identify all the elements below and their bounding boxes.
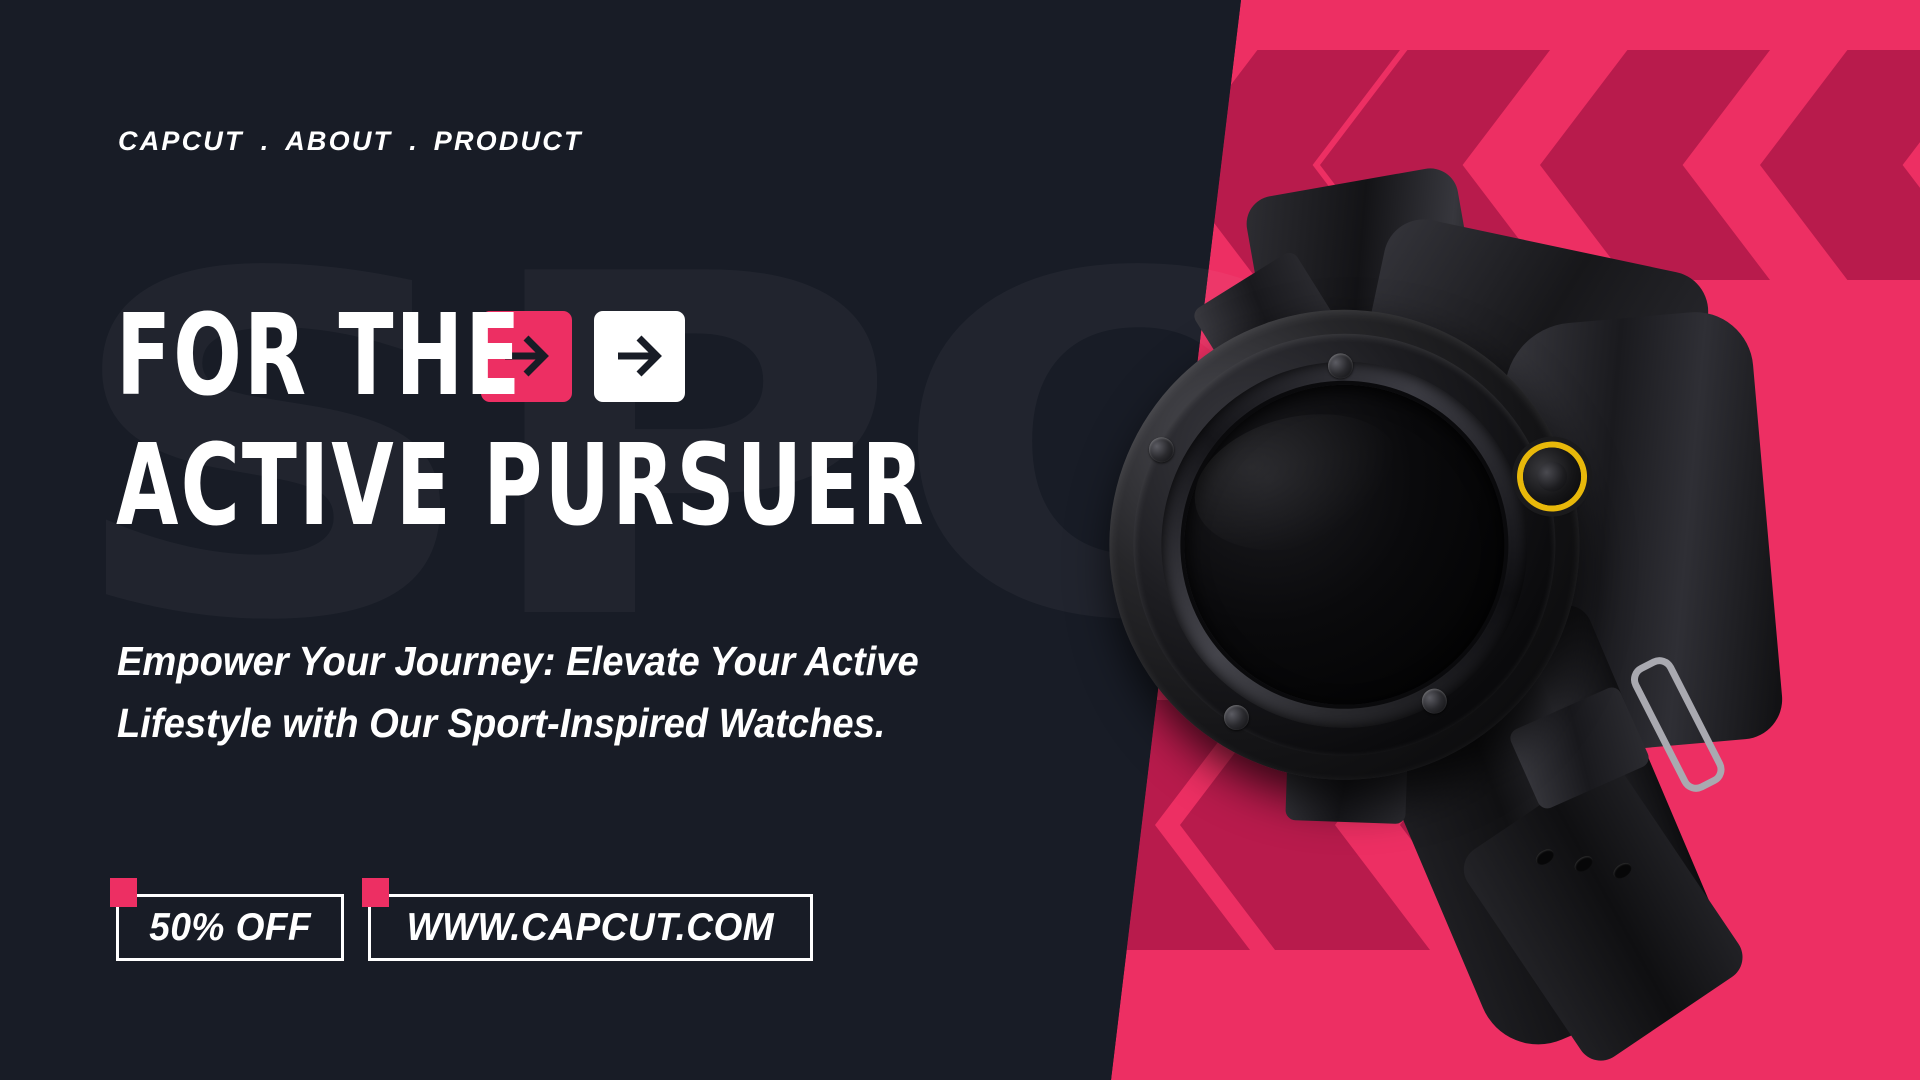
nav-separator-1: . [244,126,286,157]
headline-line-1: FOR THE [116,302,523,410]
nav-separator-2: . [392,126,434,157]
subtitle-block: Empower Your Journey: Elevate Your Activ… [117,630,917,754]
subtitle-line-2: Lifestyle with Our Sport-Inspired Watche… [117,692,917,754]
promo-banner: SPO CAPCUT . ABOUT . PRODUCT FOR THE [0,0,1920,1080]
top-navigation: CAPCUT . ABOUT . PRODUCT [118,126,583,157]
nav-item-capcut[interactable]: CAPCUT [118,126,244,157]
website-badge[interactable]: WWW.CAPCUT.COM [368,894,813,961]
discount-badge[interactable]: 50% OFF [116,894,344,961]
nav-item-product[interactable]: PRODUCT [434,126,583,157]
website-label: WWW.CAPCUT.COM [407,906,774,950]
arrow-right-icon [610,327,668,385]
discount-label: 50% OFF [149,906,311,950]
chevron-top-4 [1760,50,1920,280]
discount-badge-wrap: 50% OFF [116,878,344,961]
nav-item-about[interactable]: ABOUT [285,126,392,157]
headline-line-2: ACTIVE PURSUER [116,432,926,540]
website-badge-wrap: WWW.CAPCUT.COM [368,878,813,961]
arrow-right-white-button[interactable] [594,311,685,402]
headline-row-1: FOR THE [116,302,1016,410]
subtitle-line-1: Empower Your Journey: Elevate Your Activ… [117,630,917,692]
pink-tick-marker-website [362,878,389,907]
cta-row: 50% OFF WWW.CAPCUT.COM [116,878,813,961]
headline-block: FOR THE [116,302,1016,540]
pink-tick-marker-discount [110,878,137,907]
headline-row-2: ACTIVE PURSUER [116,432,1016,540]
